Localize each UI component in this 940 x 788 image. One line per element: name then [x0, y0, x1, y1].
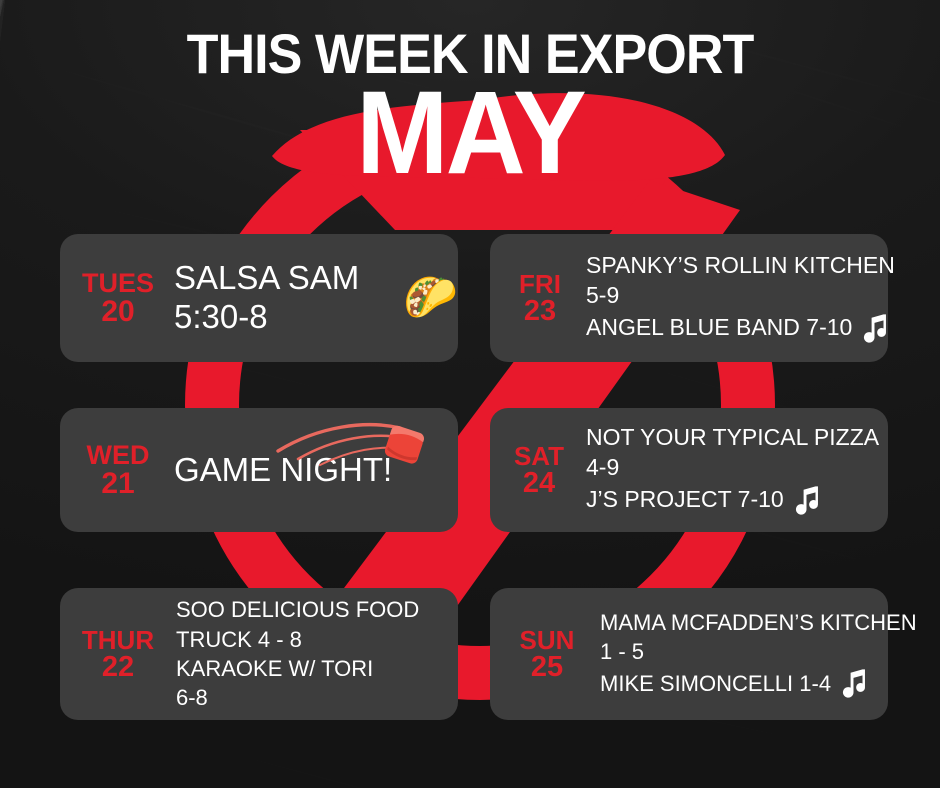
event-line: 5:30-8 [174, 298, 387, 337]
event-line-row: MIKE SIMONCELLI 1-4 [600, 666, 888, 700]
taco-emoji-icon: 🌮 [403, 276, 458, 320]
day-number-thur: 22 [102, 653, 134, 682]
music-notes-icon [837, 666, 871, 700]
event-line: SOO DELICIOUS FOOD [176, 595, 458, 624]
event-line: 6-8 [176, 683, 458, 712]
event-line: MIKE SIMONCELLI 1-4 [600, 669, 831, 698]
day-name-wed: WED [87, 442, 150, 469]
event-line: MAMA MCFADDEN’S KITCHEN [600, 608, 888, 637]
day-number-sat: 24 [523, 469, 555, 498]
day-number-fri: 23 [524, 297, 556, 326]
month-title: MAY [28, 74, 912, 192]
event-details-thur: SOO DELICIOUS FOOD TRUCK 4 - 8 KARAOKE W… [176, 595, 458, 713]
event-line-row: ANGEL BLUE BAND 7-10 [586, 311, 888, 345]
background-streak [110, 720, 555, 788]
event-line: TRUCK 4 - 8 [176, 625, 458, 654]
event-details-sun: MAMA MCFADDEN’S KITCHEN 1 - 5 MIKE SIMON… [600, 608, 888, 701]
event-card-wed[interactable]: WED 21 GAME NIGHT! [60, 408, 458, 532]
event-card-tues[interactable]: TUES 20 SALSA SAM 5:30-8 🌮 [60, 234, 458, 362]
day-name-sun: SUN [520, 627, 575, 653]
day-number-sun: 25 [531, 653, 563, 682]
event-line-row: J’S PROJECT 7-10 [586, 483, 888, 517]
day-badge-tues: TUES 20 [70, 270, 166, 327]
event-line: GAME NIGHT! [174, 451, 458, 490]
day-name-fri: FRI [519, 271, 561, 297]
event-line: 5-9 [586, 281, 888, 311]
event-details-wed: GAME NIGHT! [174, 451, 458, 490]
day-number-wed: 21 [101, 469, 134, 499]
day-name-thur: THUR [82, 627, 154, 653]
day-badge-sun: SUN 25 [504, 627, 590, 682]
event-card-sat[interactable]: SAT 24 NOT YOUR TYPICAL PIZZA 4-9 J’S PR… [490, 408, 888, 532]
day-name-sat: SAT [514, 443, 564, 469]
event-line: ANGEL BLUE BAND 7-10 [586, 313, 852, 343]
event-line: SALSA SAM [174, 259, 387, 298]
day-name-tues: TUES [82, 270, 154, 297]
event-line: SPANKY’S ROLLIN KITCHEN [586, 251, 888, 281]
event-line: 4-9 [586, 453, 888, 483]
event-line: J’S PROJECT 7-10 [586, 485, 784, 515]
event-details-fri: SPANKY’S ROLLIN KITCHEN 5-9 ANGEL BLUE B… [586, 251, 888, 345]
day-badge-fri: FRI 23 [504, 271, 576, 326]
event-line: NOT YOUR TYPICAL PIZZA [586, 423, 888, 453]
event-card-thur[interactable]: THUR 22 SOO DELICIOUS FOOD TRUCK 4 - 8 K… [60, 588, 458, 720]
event-details-sat: NOT YOUR TYPICAL PIZZA 4-9 J’S PROJECT 7… [586, 423, 888, 517]
event-details-tues: SALSA SAM 5:30-8 [174, 259, 387, 337]
day-badge-wed: WED 21 [70, 442, 166, 499]
event-card-fri[interactable]: FRI 23 SPANKY’S ROLLIN KITCHEN 5-9 ANGEL… [490, 234, 888, 362]
music-notes-icon [790, 483, 824, 517]
event-card-sun[interactable]: SUN 25 MAMA MCFADDEN’S KITCHEN 1 - 5 MIK… [490, 588, 888, 720]
day-number-tues: 20 [101, 297, 134, 327]
poster: THIS WEEK IN EXPORT MAY TUES 20 SALSA SA… [0, 0, 940, 788]
music-notes-icon [858, 311, 892, 345]
day-badge-thur: THUR 22 [66, 627, 170, 682]
day-badge-sat: SAT 24 [500, 443, 578, 498]
event-line: 1 - 5 [600, 637, 888, 666]
event-line: KARAOKE W/ TORI [176, 654, 458, 683]
